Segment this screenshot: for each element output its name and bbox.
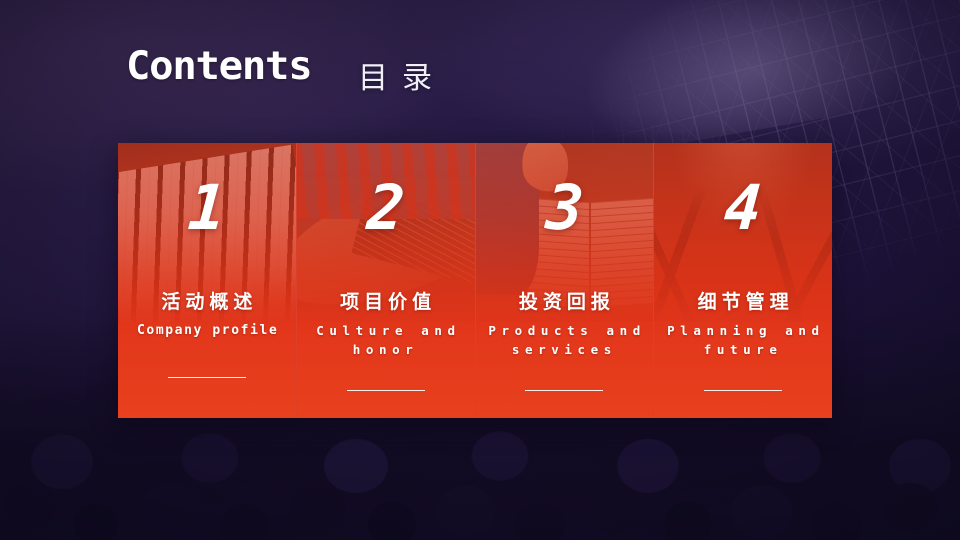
page-title-english: Contents <box>126 47 311 86</box>
contents-item-4[interactable]: 4 细节管理 Planning and future <box>654 143 832 418</box>
page-title-chinese: 目录 <box>358 60 446 98</box>
item-title-english: Products and services <box>482 321 648 360</box>
item-title-chinese: 活动概述 <box>118 291 296 314</box>
item-divider <box>168 377 246 378</box>
item-title-english: Culture and honor <box>303 321 469 360</box>
item-title-chinese: 项目价值 <box>297 291 475 314</box>
item-title-english: Planning and future <box>660 321 826 360</box>
contents-item-2[interactable]: 2 项目价值 Culture and honor <box>297 143 476 418</box>
item-number: 4 <box>654 177 832 239</box>
card-content: 1 活动概述 Company profile <box>118 143 296 418</box>
item-number: 2 <box>297 177 476 239</box>
presentation-slide: Contents 目录 1 活动概述 Company profile <box>0 0 960 540</box>
contents-card-group: 1 活动概述 Company profile 2 项目价值 Culture an… <box>118 143 832 418</box>
contents-item-3[interactable]: 3 投资回报 Products and services <box>476 143 655 418</box>
card-content: 3 投资回报 Products and services <box>476 143 654 418</box>
item-number: 1 <box>118 177 297 239</box>
item-divider <box>525 390 603 391</box>
card-content: 4 细节管理 Planning and future <box>654 143 832 418</box>
item-title-chinese: 投资回报 <box>476 291 654 314</box>
item-title-english: Company profile <box>124 321 290 341</box>
item-number: 3 <box>476 177 655 239</box>
card-content: 2 项目价值 Culture and honor <box>297 143 475 418</box>
item-divider <box>704 390 782 391</box>
item-divider <box>347 390 425 391</box>
item-title-chinese: 细节管理 <box>654 291 832 314</box>
contents-item-1[interactable]: 1 活动概述 Company profile <box>118 143 297 418</box>
slide-header: Contents 目录 <box>0 0 960 130</box>
